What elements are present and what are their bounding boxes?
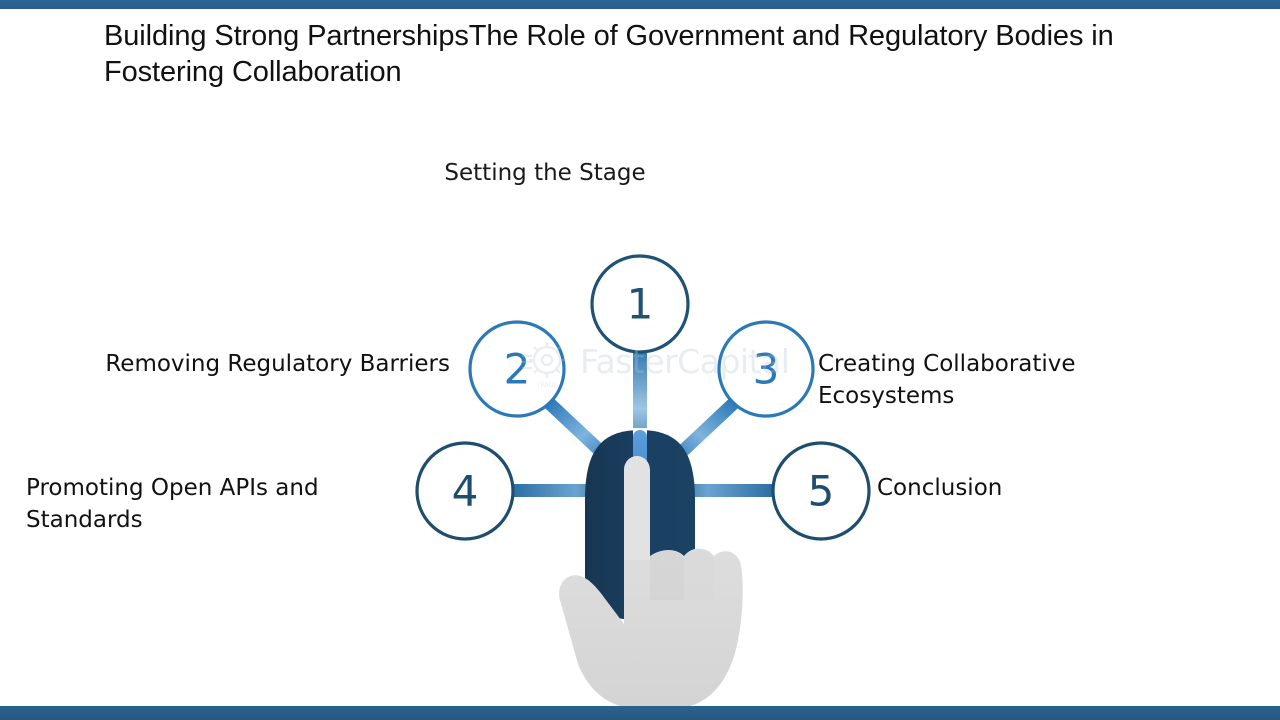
node-circle-5[interactable]: 5 [773, 443, 869, 539]
node-circle-4[interactable]: 4 [417, 443, 513, 539]
node-number-5: 5 [808, 467, 835, 516]
node-number-2: 2 [504, 345, 531, 394]
node-circle-1[interactable]: 1 [592, 256, 688, 352]
slide-canvas: Building Strong PartnershipsThe Role of … [0, 0, 1280, 720]
bottom-accent-bar [0, 706, 1280, 720]
node-number-1: 1 [627, 280, 654, 329]
node-label-2: Removing Regulatory Barriers [40, 348, 450, 380]
node-circle-3[interactable]: 3 [719, 322, 813, 416]
node-number-4: 4 [452, 467, 479, 516]
node-label-5: Conclusion [877, 472, 1177, 504]
node-label-4: Promoting Open APIs and Standards [26, 472, 366, 536]
node-label-3: Creating Collaborative Ecosystems [818, 348, 1178, 412]
node-number-3: 3 [753, 345, 780, 394]
node-circle-2[interactable]: 2 [470, 322, 564, 416]
